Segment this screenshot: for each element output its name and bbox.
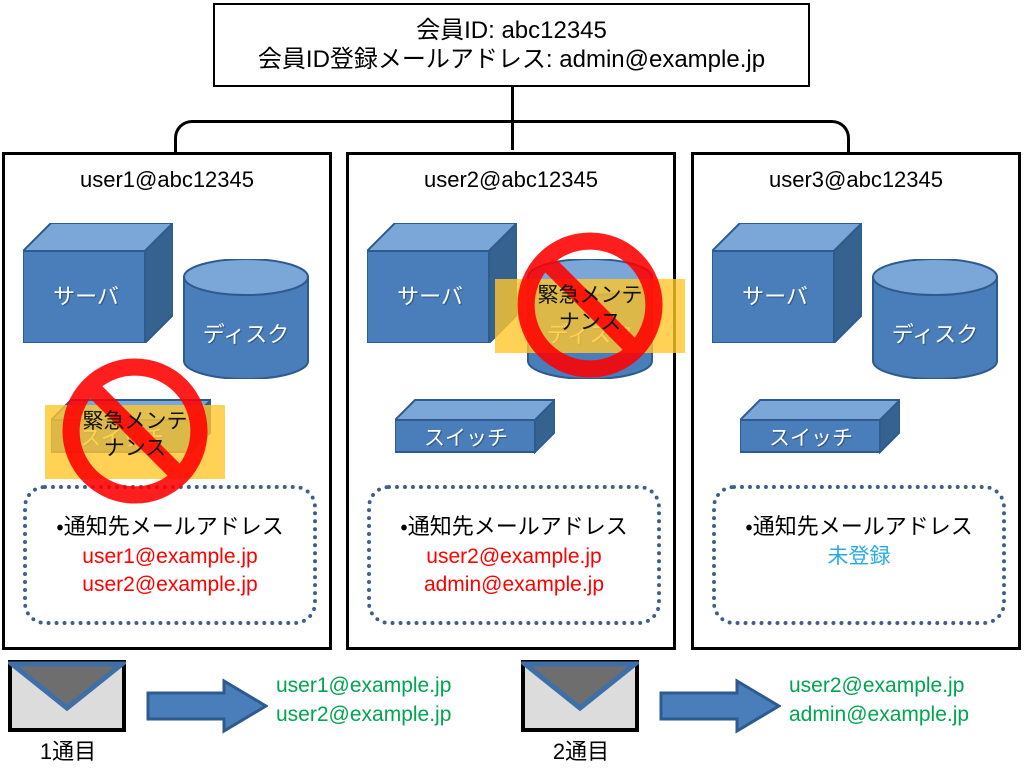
user-panel-3[interactable]: user3@abc12345 サーバ ディスク スイッチ: [691, 152, 1021, 650]
server-icon-3: サーバ: [712, 223, 862, 343]
notify-head-2: ・通知先メールアドレス: [371, 509, 657, 541]
notify-list-1: user1@example.jp user2@example.jp: [27, 543, 313, 598]
server-icon-1: サーバ: [23, 223, 173, 343]
member-id-line: 会員ID: abc12345: [416, 16, 607, 45]
mail-recipient: user1@example.jp: [276, 672, 526, 701]
notify-box-3: ・通知先メールアドレス 未登録: [712, 485, 1006, 625]
mail-recipient: user2@example.jp: [276, 701, 526, 730]
mail-caption-1: 1通目: [6, 734, 130, 766]
maintenance-label-1: 緊急メンテ ナンス: [45, 409, 225, 463]
envelope-icon-2: [521, 660, 639, 732]
notify-address: admin@example.jp: [371, 571, 657, 599]
notify-address: user2@example.jp: [371, 543, 657, 571]
notify-list-3: 未登録: [716, 543, 1002, 571]
mail-recipient: user2@example.jp: [789, 672, 1024, 701]
member-mail-line: 会員ID登録メールアドレス: admin@example.jp: [258, 45, 765, 74]
notify-address: 未登録: [716, 543, 1002, 571]
maintenance-overlay-2: 緊急メンテ ナンス: [495, 255, 685, 355]
arrow-icon-1: [146, 678, 268, 734]
notify-address: user2@example.jp: [27, 571, 313, 599]
notify-box-2: ・通知先メールアドレス user2@example.jp admin@examp…: [367, 485, 661, 625]
notify-head-3: ・通知先メールアドレス: [716, 509, 1002, 541]
mail-caption-2: 2通目: [519, 734, 643, 766]
switch-icon-3: スイッチ: [740, 398, 900, 456]
envelope-icon-1: [8, 660, 126, 732]
panel-title-1: user1@abc12345: [5, 167, 329, 193]
arrow-icon-2: [659, 678, 781, 734]
diagram-canvas: 会員ID: abc12345 会員ID登録メールアドレス: admin@exam…: [0, 0, 1024, 773]
notify-list-2: user2@example.jp admin@example.jp: [371, 543, 657, 598]
panel-title-3: user3@abc12345: [694, 167, 1018, 193]
maintenance-overlay-1: 緊急メンテ ナンス: [45, 381, 225, 481]
member-info-box: 会員ID: abc12345 会員ID登録メールアドレス: admin@exam…: [213, 3, 810, 87]
mail-recipients-2: user2@example.jp admin@example.jp: [789, 672, 1024, 730]
notify-address: user1@example.jp: [27, 543, 313, 571]
mail-recipient: admin@example.jp: [789, 701, 1024, 730]
mail-recipients-1: user1@example.jp user2@example.jp: [276, 672, 526, 730]
disk-icon-3: ディスク: [870, 259, 1000, 379]
panel-title-2: user2@abc12345: [349, 167, 673, 193]
user-panel-2[interactable]: user2@abc12345 サーバ ディスク スイッチ: [346, 152, 676, 650]
user-panel-1[interactable]: user1@abc12345 サーバ ディスク スイッチ: [2, 152, 332, 650]
notify-head-1: ・通知先メールアドレス: [27, 509, 313, 541]
switch-icon-2: スイッチ: [395, 398, 555, 456]
maintenance-label-2: 緊急メンテ ナンス: [495, 283, 685, 337]
connector-bus: [174, 120, 850, 152]
